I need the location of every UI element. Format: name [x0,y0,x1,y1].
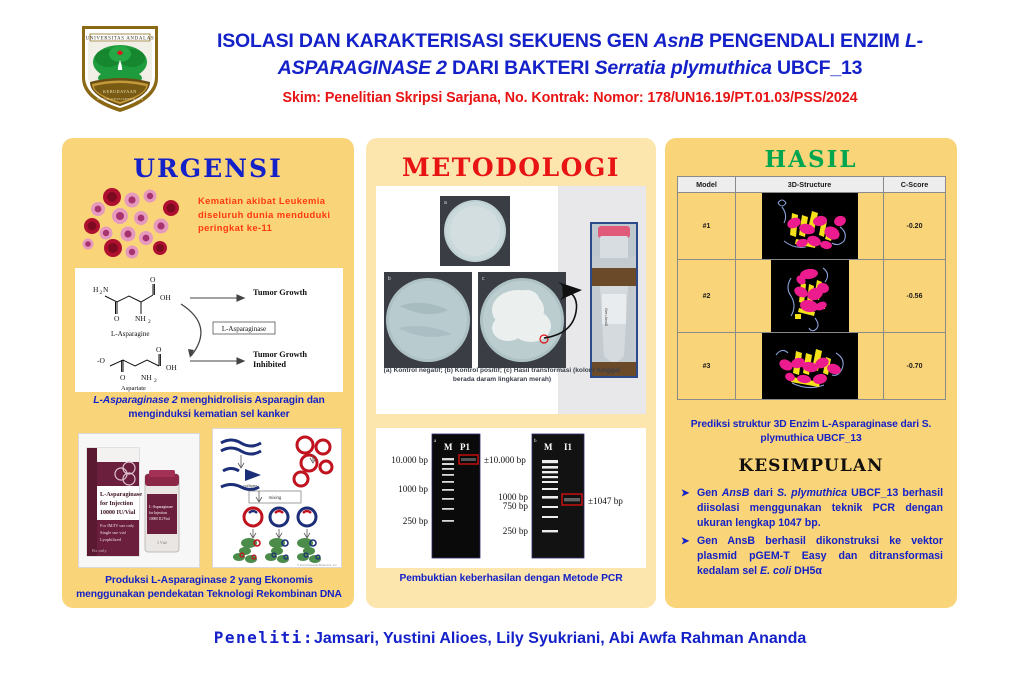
svg-text:mixing: mixing [269,495,282,500]
protein-3d-model-2 [771,260,849,332]
svg-text:O: O [120,373,126,382]
caption-chem-italic: L-Asparaginase 2 [93,395,177,406]
kesimpulan-list: ➤Gen AnsB dari S. plymuthica UBCF_13 ber… [681,486,943,581]
svg-text:O: O [114,314,120,323]
svg-text:Gen AnsB: Gen AnsB [604,308,609,326]
svg-text:H: H [93,285,99,294]
metodologi-gel-caption: Pembuktian keberhasilan dengan Metode PC… [374,572,648,586]
gel-right-lane-m: M [544,442,553,452]
list-item: ➤Gen AnsB berhasil dikonstruksi ke vekto… [681,534,943,580]
urgensi-chem-caption: L-Asparaginase 2 menghidrolisis Asparagi… [70,394,348,421]
protein-3d-model-3 [762,333,858,399]
panel-urgensi: URGENSI [62,138,354,608]
svg-text:L-Asparaginase: L-Asparaginase [149,505,173,509]
cell-model-3: #3 [678,333,736,400]
title-seg-3: DARI BAKTERI [447,57,595,79]
tumor-inhibited-label-2: Inhibited [253,360,286,369]
cell-model-1: #1 [678,193,736,260]
panel-hasil: HASIL Model 3D-Structure C-Score #1 [665,138,957,608]
bullet-1-species: S. plymuthica [777,487,847,499]
pcr-gel-figure: a M P1 10.000 bp 1000 bp [376,428,646,568]
cell-cscore-3: -0.70 [884,333,946,400]
panel-metodologi: METODOLOGI a b [366,138,656,608]
gel-left-band-annotation: ±10.000 bp [484,455,526,465]
l-asparaginase-vial-photo: L-Asparaginase for Injection 10000 IU/Vi… [78,433,200,568]
svg-text:1 Vial: 1 Vial [157,540,167,545]
bullet-2-ecoli: E. coli [760,565,791,577]
svg-text:Lyophilized: Lyophilized [100,537,122,542]
svg-text:For IM/IV use only: For IM/IV use only [100,523,135,528]
bullet-1-seg1: Gen [697,487,722,499]
gel-right-ladder-250: 250 bp [503,526,529,536]
svg-text:© Encyclopaedia Britannica, In: © Encyclopaedia Britannica, Inc. [297,563,338,567]
leukemia-statistic-text: Kematian akibat Leukemia diseluruh dunia… [198,194,344,235]
hasil-structure-table: Model 3D-Structure C-Score #1 [677,176,946,400]
substrate-label: L-Asparagine [111,330,149,338]
protein-3d-model-1 [762,193,858,259]
svg-text:O: O [150,275,156,284]
tumor-growth-label: Tumor Growth [253,288,307,297]
title-seg-1: ISOLASI DAN KARAKTERISASI SEKUENS GEN [217,30,654,52]
gel-left-ladder-10000: 10.000 bp [391,455,428,465]
urgensi-heading: URGENSI [62,154,354,183]
cell-cscore-2: -0.56 [884,260,946,333]
list-item: ➤Gen AnsB dari S. plymuthica UBCF_13 ber… [681,486,943,532]
svg-text:OH: OH [160,293,171,302]
svg-text:N: N [103,285,109,294]
cell-structure-3 [736,333,884,400]
title-seg-4: UBCF_13 [772,57,863,79]
svg-text:for Injection: for Injection [149,511,167,515]
metodologi-plate-caption: (a) Kontrol negatif; (b) Kontrol positif… [378,366,626,384]
title-gene-asnb: AsnB [654,30,704,52]
table-header-row: Model 3D-Structure C-Score [678,177,946,193]
svg-text:Rx only: Rx only [92,548,107,553]
urgensi-production-caption: Produksi L-Asparaginase 2 yang Ekonomis … [70,574,348,601]
cell-model-2: #2 [678,260,736,333]
cell-structure-1 [736,193,884,260]
gel-right-ladder-750: 750 bp [503,501,529,511]
bullet-1-gene: AnsB [722,487,750,499]
svg-text:UNTUK KESEJAHTERAAN: UNTUK KESEJAHTERAAN [97,97,144,101]
arrow-bullet-icon: ➤ [681,534,689,549]
researchers-label: Peneliti: [214,628,314,647]
col-3d-structure: 3D-Structure [736,177,884,193]
enzyme-label: L-Asparaginase [222,325,266,333]
col-c-score: C-Score [884,177,946,193]
svg-text:cut/ligate: cut/ligate [243,484,257,488]
svg-text:-O: -O [97,356,105,365]
plate-a-letter: a [444,200,447,206]
gel-right-lane-i1: I1 [564,442,573,452]
title-block: ISOLASI DAN KARAKTERISASI SEKUENS GEN As… [170,28,970,106]
bullet-2-seg2: DH5α [791,565,822,577]
hasil-heading: HASIL [665,146,957,173]
table-row: #2 [678,260,946,333]
svg-text:2: 2 [154,378,157,384]
svg-text:NH: NH [141,373,152,382]
gel-left-lane-p1: P1 [460,442,470,452]
tumor-inhibited-label-1: Tumor Growth [253,350,307,359]
title-asparaginase2: ASPARAGINASE 2 [278,57,447,79]
metodologi-heading: METODOLOGI [366,153,656,182]
svg-text:10000 IU/Vial: 10000 IU/Vial [100,510,136,516]
poster-root: UNIVERSITAS ANDALAS KEBUDAYAAN UNTUK KES… [0,0,1020,680]
svg-text:2: 2 [148,319,151,325]
product-label: Aspartate [121,385,146,392]
cell-cscore-1: -0.20 [884,193,946,260]
plate-b-letter: b [388,276,391,282]
asparaginase-reaction-figure: H 2 N O NH 2 O OH L-Asparagine -O O NH [75,268,343,392]
svg-text:NH: NH [135,314,146,323]
hasil-prediction-caption: Prediksi struktur 3D Enzim L-Asparaginas… [671,418,951,445]
urgensi-image-row: L-Asparaginase for Injection 10000 IU/Vi… [78,428,340,570]
svg-text:Single use vial: Single use vial [100,530,127,535]
svg-text:for Injection: for Injection [100,500,134,507]
title-seg-2: PENGENDALI ENZIM [704,30,905,52]
svg-text:L-Asparaginase: L-Asparaginase [100,491,142,498]
poster-title: ISOLASI DAN KARAKTERISASI SEKUENS GEN As… [170,28,970,82]
col-model: Model [678,177,736,193]
title-species: Serratia plymuthica [595,57,772,79]
cell-structure-2 [736,260,884,333]
grant-scheme-line: Skim: Penelitian Skripsi Sarjana, No. Ko… [170,90,970,106]
bullet-1-seg2: dari [749,487,777,499]
universitas-andalas-logo: UNIVERSITAS ANDALAS KEBUDAYAAN UNTUK KES… [68,12,172,116]
gel-left-ladder-250: 250 bp [403,516,429,526]
gel-left-lane-m: M [444,442,453,452]
gel-left-ladder-1000: 1000 bp [398,484,428,494]
logo-top-text: UNIVERSITAS ANDALAS [86,37,155,42]
researchers-names: Jamsari, Yustini Alioes, Lily Syukriani,… [314,630,806,647]
svg-text:10000 IU/Vial: 10000 IU/Vial [149,517,170,521]
blood-cells-illustration [76,186,194,264]
svg-text:OH: OH [166,363,177,372]
poster-header: UNIVERSITAS ANDALAS KEBUDAYAAN UNTUK KES… [0,0,1020,128]
gel-right-band-annotation: ±1047 bp [588,496,623,506]
kesimpulan-heading: KESIMPULAN [665,456,957,476]
logo-bottom-text: KEBUDAYAAN [103,89,137,94]
hasil-structure-table-wrap: Model 3D-Structure C-Score #1 [677,176,945,416]
svg-text:O: O [156,345,162,354]
title-seg-l: L- [905,30,923,52]
table-row: #3 [678,333,946,400]
recombinant-dna-technology-diagram: mixing cut/ligate [212,428,342,568]
leukemia-stat-row: Kematian akibat Leukemia diseluruh dunia… [76,186,342,264]
poster-footer: Peneliti:Jamsari, Yustini Alioes, Lily S… [0,628,1020,648]
arrow-bullet-icon: ➤ [681,486,689,501]
table-row: #1 [678,193,946,260]
